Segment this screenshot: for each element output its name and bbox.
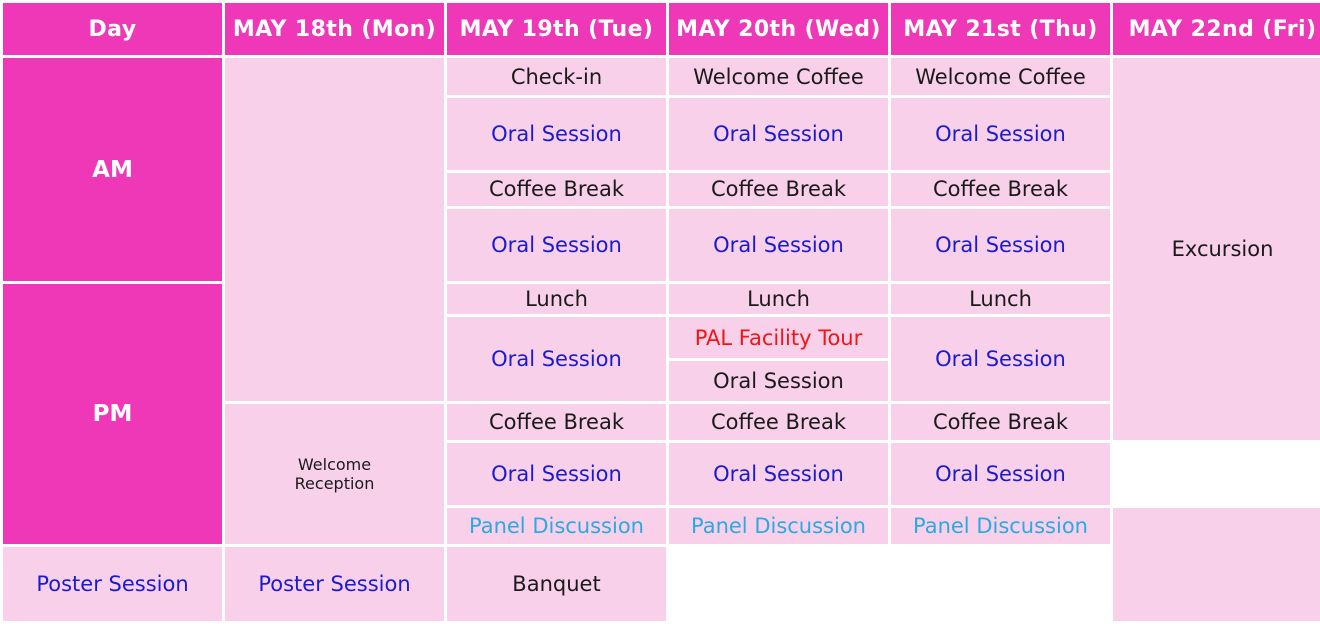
cell-thu-oral-session-4: Oral Session [891,443,1110,505]
cell-text: Coffee Break [447,410,666,434]
cell-text: Lunch [891,287,1110,311]
cell-text: Panel Discussion [447,514,666,538]
cell-text: Lunch [669,287,888,311]
cell-thu-lunch: Lunch [891,284,1110,314]
cell-text: Coffee Break [891,410,1110,434]
cell-tue-oral-session-1: Oral Session [447,98,666,171]
column-header-may-22-fri: MAY 22nd (Fri) [1113,3,1320,55]
cell-text: Coffee Break [447,177,666,201]
period-label-am: AM [3,58,222,281]
cell-text: Oral Session [447,462,666,486]
cell-text: Oral Session [447,122,666,146]
cell-thu-oral-session-3: Oral Session [891,317,1110,401]
cell-mon-welcome-reception: Welcome Reception [225,404,444,544]
cell-wed-oral-session-3: Oral Session [669,361,888,401]
cell-text: Oral Session [891,462,1110,486]
cell-thu-oral-session-1: Oral Session [891,98,1110,171]
cell-tue-coffee-break-2: Coffee Break [447,404,666,440]
cell-text: PAL Facility Tour [669,326,888,350]
cell-text: Oral Session [447,347,666,371]
column-header-may-20-wed: MAY 20th (Wed) [669,3,888,55]
cell-text: Oral Session [891,122,1110,146]
column-header-may-18-mon: MAY 18th (Mon) [225,3,444,55]
cell-wed-oral-session-2: Oral Session [669,209,888,282]
cell-thu-coffee-break-2: Coffee Break [891,404,1110,440]
cell-wed-coffee-break-1: Coffee Break [669,173,888,205]
column-header-may-21-thu: MAY 21st (Thu) [891,3,1110,55]
cell-text: Coffee Break [669,410,888,434]
cell-text-line-2: Reception [225,474,444,494]
cell-tue-lunch: Lunch [447,284,666,314]
cell-tue-panel-discussion: Panel Discussion [447,508,666,544]
cell-text: Coffee Break [891,177,1110,201]
cell-text: Welcome Coffee [891,65,1110,89]
cell-wed-panel-discussion: Panel Discussion [669,508,888,544]
cell-text: Coffee Break [669,177,888,201]
cell-tue-oral-session-3: Oral Session [447,317,666,401]
cell-text: Excursion [1113,237,1320,261]
table-row: AM Check-in Welcome Coffee Welcome Coffe… [3,58,1320,94]
cell-text: Banquet [447,572,666,596]
cell-text: Oral Session [669,369,888,393]
cell-text: Welcome Coffee [669,65,888,89]
monday-am-empty-block [225,58,444,401]
cell-text: Lunch [447,287,666,311]
cell-tue-checkin: Check-in [447,58,666,94]
cell-thu-coffee-break-1: Coffee Break [891,173,1110,205]
cell-text: Check-in [447,65,666,89]
column-header-day: Day [3,3,222,55]
cell-tue-poster-session: Poster Session [3,547,222,621]
period-label-pm: PM [3,284,222,544]
cell-text: Oral Session [891,347,1110,371]
cell-fri-empty-block [1113,508,1320,621]
cell-wed-welcome-coffee: Welcome Coffee [669,58,888,94]
header-row: Day MAY 18th (Mon) MAY 19th (Tue) MAY 20… [3,3,1320,55]
cell-wed-coffee-break-2: Coffee Break [669,404,888,440]
cell-text: Panel Discussion [891,514,1110,538]
cell-text: Poster Session [225,572,444,596]
cell-text: Panel Discussion [669,514,888,538]
cell-wed-poster-session: Poster Session [225,547,444,621]
cell-wed-lunch: Lunch [669,284,888,314]
cell-text-line-1: Welcome [225,455,444,475]
cell-tue-oral-session-4: Oral Session [447,443,666,505]
cell-thu-panel-discussion: Panel Discussion [891,508,1110,544]
cell-wed-oral-session-4: Oral Session [669,443,888,505]
cell-wed-oral-session-1: Oral Session [669,98,888,171]
cell-text: Oral Session [669,233,888,257]
cell-text: Oral Session [669,122,888,146]
schedule-grid: Day MAY 18th (Mon) MAY 19th (Tue) MAY 20… [0,0,1320,624]
cell-text: Oral Session [669,462,888,486]
cell-tue-oral-session-2: Oral Session [447,209,666,282]
cell-wed-pal-facility-tour: PAL Facility Tour [669,317,888,357]
cell-thu-oral-session-2: Oral Session [891,209,1110,282]
cell-text: Oral Session [891,233,1110,257]
cell-fri-excursion: Excursion [1113,58,1320,440]
cell-text: Oral Session [447,233,666,257]
cell-tue-coffee-break-1: Coffee Break [447,173,666,205]
cell-text: Poster Session [3,572,222,596]
cell-thu-banquet: Banquet [447,547,666,621]
cell-thu-welcome-coffee: Welcome Coffee [891,58,1110,94]
conference-schedule-table: Day MAY 18th (Mon) MAY 19th (Tue) MAY 20… [0,0,1320,624]
column-header-may-19-tue: MAY 19th (Tue) [447,3,666,55]
